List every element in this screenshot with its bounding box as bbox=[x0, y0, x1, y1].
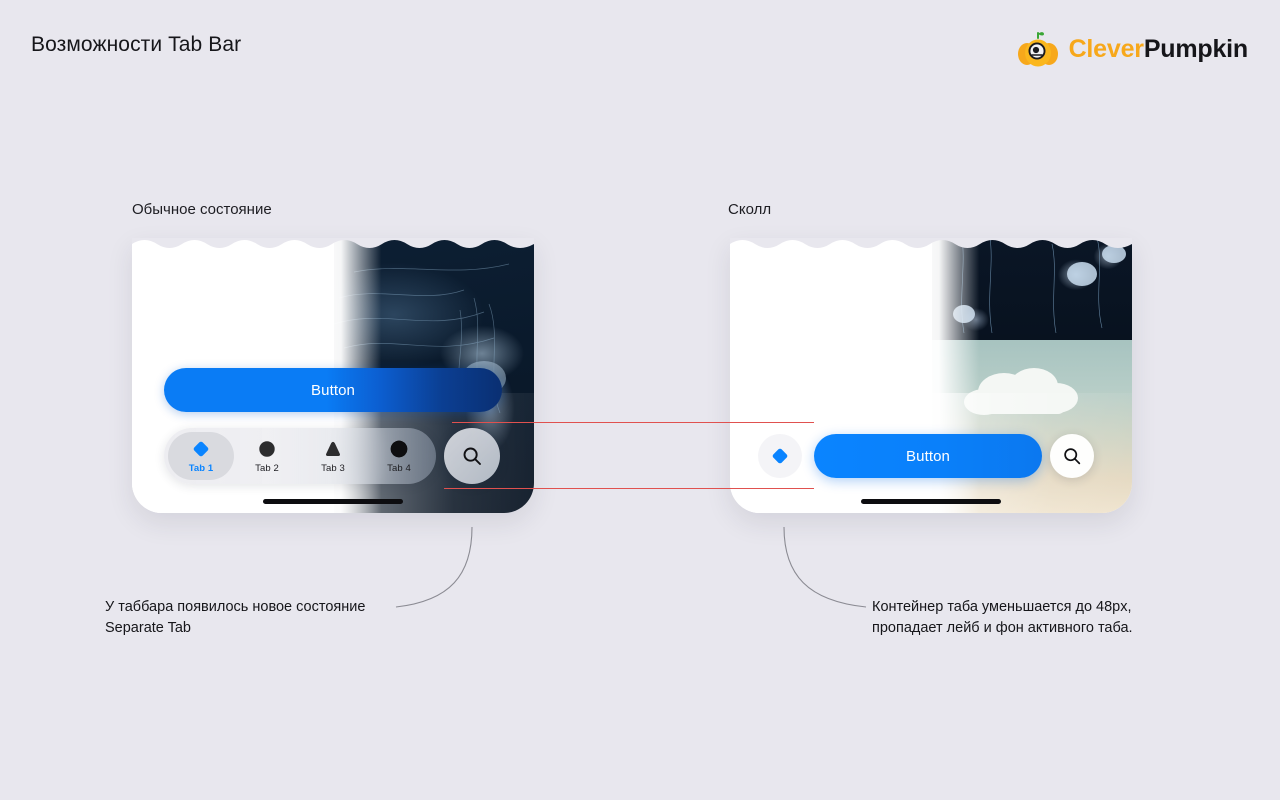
triangle-icon bbox=[322, 438, 344, 460]
tab-label-3: Tab 3 bbox=[321, 463, 345, 474]
page-title: Возможности Tab Bar bbox=[31, 33, 241, 57]
tab-label-4: Tab 4 bbox=[387, 463, 411, 474]
primary-button[interactable]: Button bbox=[814, 434, 1042, 478]
tab-item-3[interactable]: Tab 3 bbox=[300, 432, 366, 480]
search-button[interactable] bbox=[444, 428, 500, 484]
mockup-normal-state: Button Tab 1 Tab 2 Tab 3 bbox=[132, 238, 534, 513]
brand-word-pumpkin: Pumpkin bbox=[1144, 35, 1248, 63]
tab-item-2[interactable]: Tab 2 bbox=[234, 432, 300, 480]
leader-line-right bbox=[762, 515, 882, 620]
measure-guide-top bbox=[452, 422, 814, 423]
pumpkin-mascot-icon bbox=[1016, 28, 1060, 70]
diamond-icon bbox=[769, 445, 791, 467]
tab-bar[interactable]: Tab 1 Tab 2 Tab 3 bbox=[164, 428, 436, 484]
tab-label-2: Tab 2 bbox=[255, 463, 279, 474]
cloud-icon bbox=[956, 362, 1091, 424]
slide-canvas: Возможности Tab Bar CleverPumpkin Обычно… bbox=[0, 0, 1280, 800]
tab-label-1: Tab 1 bbox=[189, 463, 214, 474]
diamond-icon bbox=[190, 438, 212, 460]
cloud-photo bbox=[932, 340, 1132, 513]
note-scroll-state: Контейнер таба уменьшается до 48px, проп… bbox=[872, 597, 1147, 639]
starburst-icon bbox=[388, 438, 410, 460]
jellyfish-tentacles-decor bbox=[932, 238, 1132, 340]
measure-guide-bottom bbox=[444, 488, 814, 489]
leader-line-left bbox=[380, 515, 500, 620]
section-caption-normal: Обычное состояние bbox=[132, 201, 272, 218]
brand-word-clever: Clever bbox=[1069, 35, 1144, 63]
note-normal-state: У таббара появилось новое состояние Sepa… bbox=[105, 597, 375, 639]
home-indicator bbox=[861, 499, 1001, 504]
section-caption-scroll: Сколл bbox=[728, 201, 771, 218]
search-icon bbox=[1061, 445, 1083, 467]
brand-wordmark: CleverPumpkin bbox=[1069, 37, 1248, 62]
home-indicator bbox=[263, 499, 403, 504]
search-button[interactable] bbox=[1050, 434, 1094, 478]
jellyfish-photo-strip bbox=[932, 238, 1132, 340]
tab-item-1-compact[interactable] bbox=[758, 434, 802, 478]
search-icon bbox=[460, 444, 484, 468]
tab-item-4[interactable]: Tab 4 bbox=[366, 432, 432, 480]
mockup-scroll-state: Button bbox=[730, 238, 1132, 513]
tab-item-1[interactable]: Tab 1 bbox=[168, 432, 234, 480]
circle-icon bbox=[256, 438, 278, 460]
brand-logo: CleverPumpkin bbox=[1016, 28, 1248, 70]
primary-button[interactable]: Button bbox=[164, 368, 502, 412]
